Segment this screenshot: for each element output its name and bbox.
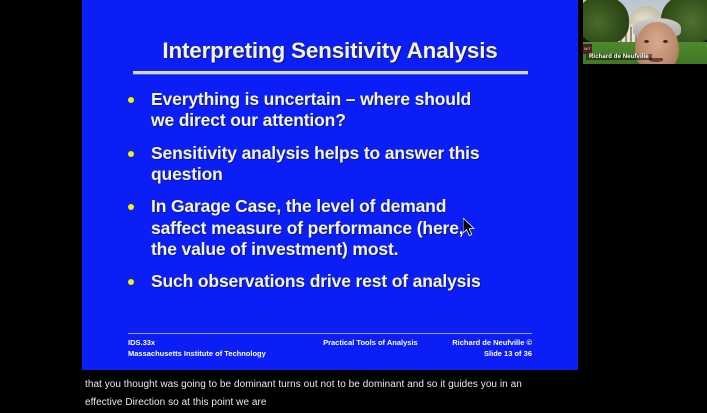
bullet-line: Everything is uncertain – where should	[151, 89, 558, 110]
bullet-dot-icon	[128, 204, 134, 210]
bullet-line: we direct our attention?	[151, 110, 558, 131]
slide-bullet-list: Everything is uncertain – where should w…	[118, 89, 558, 304]
list-item: In Garage Case, the level of demand saff…	[118, 196, 558, 260]
bullet-line: In Garage Case, the level of demand	[151, 196, 558, 217]
footer-divider	[128, 333, 532, 334]
caption-line: effective Direction so at this point we …	[85, 394, 625, 412]
webcam-letterbox	[583, 64, 707, 72]
bullet-line: Such observations drive rest of analysis	[151, 271, 558, 292]
mit-badge: MIT	[583, 44, 592, 54]
list-item: Such observations drive rest of analysis	[118, 271, 558, 292]
footer-course-code: IDS.33x	[128, 338, 310, 349]
list-item: Sensitivity analysis helps to answer thi…	[118, 143, 558, 186]
presenter-eye-right	[663, 40, 668, 43]
title-underline-rule	[133, 71, 528, 74]
closed-caption-text: that you thought was going to be dominan…	[85, 376, 625, 411]
slide-footer: IDS.33x Practical Tools of Analysis Rich…	[128, 338, 532, 359]
bullet-line: saffect measure of performance (here,	[151, 218, 558, 239]
bullet-line: Sensitivity analysis helps to answer thi…	[151, 143, 558, 164]
caption-line: that you thought was going to be dominan…	[85, 376, 625, 394]
footer-row: Massachusetts Institute of Technology Sl…	[128, 349, 532, 360]
footer-slide-number: Slide 13 of 36	[431, 349, 532, 360]
footer-center-text: Practical Tools of Analysis	[310, 338, 431, 349]
webcam-tree-left	[583, 0, 629, 44]
bullet-dot-icon	[128, 97, 134, 103]
presenter-eye-left	[644, 40, 649, 43]
presentation-slide: Interpreting Sensitivity Analysis Everyt…	[82, 0, 578, 370]
list-item: Everything is uncertain – where should w…	[118, 89, 558, 132]
bullet-line: question	[151, 164, 558, 185]
bullet-dot-icon	[128, 279, 134, 285]
presenter-webcam-overlay[interactable]: MIT Richard de Neufville	[583, 0, 707, 72]
presenter-name-label: Richard de Neufville	[586, 54, 652, 60]
video-player-frame: Interpreting Sensitivity Analysis Everyt…	[0, 0, 707, 413]
footer-institution: Massachusetts Institute of Technology	[128, 349, 310, 360]
bullet-dot-icon	[128, 151, 134, 157]
bullet-line: the value of investment) most.	[151, 239, 558, 260]
footer-row: IDS.33x Practical Tools of Analysis Rich…	[128, 338, 532, 349]
footer-author: Richard de Neufville ©	[431, 338, 532, 349]
slide-title: Interpreting Sensitivity Analysis	[82, 38, 578, 64]
